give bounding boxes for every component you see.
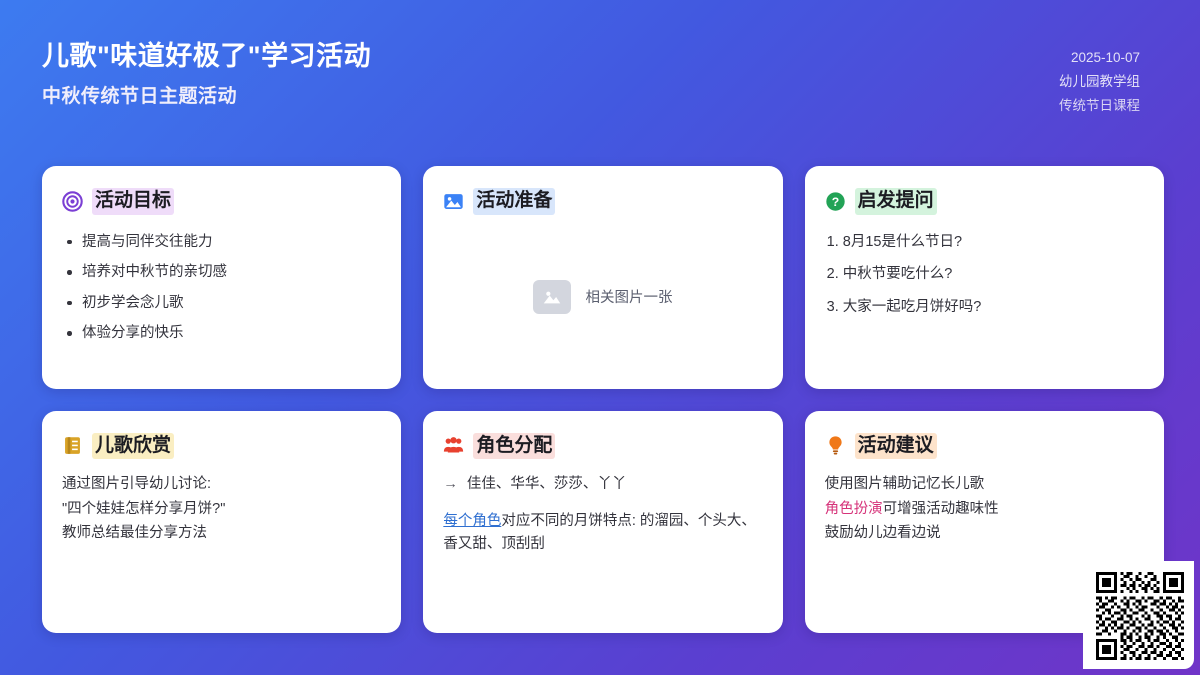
card-grid: 活动目标 提高与同伴交往能力 培养对中秋节的亲切感 初步学会念儿歌 体验分享的快… xyxy=(42,166,1164,633)
song-line: 通过图片引导幼儿讨论: xyxy=(62,473,381,496)
meta-org: 幼儿园教学组 xyxy=(1059,73,1140,91)
meta-course: 传统节日课程 xyxy=(1059,97,1140,115)
qr-code-container[interactable] xyxy=(1083,561,1194,669)
card-objectives[interactable]: 活动目标 提高与同伴交往能力 培养对中秋节的亲切感 初步学会念儿歌 体验分享的快… xyxy=(42,166,401,389)
card-title: 活动建议 xyxy=(855,433,937,460)
target-icon xyxy=(62,191,83,212)
song-line: 教师总结最佳分享方法 xyxy=(62,522,381,545)
tip-line-2: 角色扮演可增强活动趣味性 xyxy=(825,498,1144,521)
placeholder-image-icon xyxy=(533,280,571,314)
card-header: ? 启发提问 xyxy=(825,188,1144,215)
header-meta: 2025-10-07 幼儿园教学组 传统节日课程 xyxy=(1059,40,1140,116)
page-title: 儿歌"味道好极了"学习活动 xyxy=(42,40,371,74)
lightbulb-icon xyxy=(825,435,846,456)
list-item: 中秋节要吃什么? xyxy=(825,263,1144,285)
placeholder-label: 相关图片一张 xyxy=(585,286,672,307)
tip-line-2-rest: 可增强活动趣味性 xyxy=(883,501,999,517)
page-subtitle: 中秋传统节日主题活动 xyxy=(42,85,371,109)
list-item: 初步学会念儿歌 xyxy=(62,292,381,314)
card-header: 活动建议 xyxy=(825,433,1144,460)
list-item: 培养对中秋节的亲切感 xyxy=(62,261,381,283)
tip-line-1: 使用图片辅助记忆长儿歌 xyxy=(825,473,1144,496)
arrow-right-icon: → xyxy=(443,473,458,495)
card-roles[interactable]: 角色分配 → 佳佳、华华、莎莎、丫丫 每个角色对应不同的月饼特点: 的溜园、个头… xyxy=(423,411,782,634)
book-icon xyxy=(62,435,83,456)
card-header: 活动目标 xyxy=(62,188,381,215)
questions-list: 8月15是什么节日? 中秋节要吃什么? 大家一起吃月饼好吗? xyxy=(825,231,1144,328)
card-questions[interactable]: ? 启发提问 8月15是什么节日? 中秋节要吃什么? 大家一起吃月饼好吗? xyxy=(805,166,1164,389)
card-title: 儿歌欣赏 xyxy=(92,433,174,460)
card-title: 启发提问 xyxy=(855,188,937,215)
roles-arrow-line: → 佳佳、华华、莎莎、丫丫 xyxy=(443,473,762,495)
card-song[interactable]: 儿歌欣赏 通过图片引导幼儿讨论: "四个娃娃怎样分享月饼?" 教师总结最佳分享方… xyxy=(42,411,401,634)
slide-inner: 儿歌"味道好极了"学习活动 中秋传统节日主题活动 2025-10-07 幼儿园教… xyxy=(6,6,1194,669)
objectives-list: 提高与同伴交往能力 培养对中秋节的亲切感 初步学会念儿歌 体验分享的快乐 xyxy=(62,231,381,353)
card-header: 角色分配 xyxy=(443,433,762,460)
people-icon xyxy=(443,435,464,456)
card-header: 活动准备 xyxy=(443,188,762,215)
roles-description: 每个角色对应不同的月饼特点: 的溜园、个头大、香又甜、顶刮刮 xyxy=(443,510,762,557)
card-title: 活动目标 xyxy=(92,188,174,215)
card-title: 角色分配 xyxy=(473,433,555,460)
list-item: 提高与同伴交往能力 xyxy=(62,231,381,253)
list-item: 体验分享的快乐 xyxy=(62,322,381,344)
tip-highlight: 角色扮演 xyxy=(825,501,883,517)
role-link[interactable]: 每个角色 xyxy=(443,513,501,529)
tip-line-3: 鼓励幼儿边看边说 xyxy=(825,522,1144,545)
image-icon xyxy=(443,191,464,212)
card-title: 活动准备 xyxy=(473,188,555,215)
slide-header: 儿歌"味道好极了"学习活动 中秋传统节日主题活动 2025-10-07 幼儿园教… xyxy=(6,6,1194,156)
card-header: 儿歌欣赏 xyxy=(62,433,381,460)
qr-code-icon xyxy=(1096,572,1184,660)
header-left: 儿歌"味道好极了"学习活动 中秋传统节日主题活动 xyxy=(42,40,371,109)
svg-text:?: ? xyxy=(831,195,838,209)
song-line: "四个娃娃怎样分享月饼?" xyxy=(62,498,381,521)
list-item: 大家一起吃月饼好吗? xyxy=(825,296,1144,318)
list-item: 8月15是什么节日? xyxy=(825,231,1144,253)
meta-date: 2025-10-07 xyxy=(1059,49,1140,67)
image-placeholder: 相关图片一张 xyxy=(443,223,762,371)
roles-names: 佳佳、华华、莎莎、丫丫 xyxy=(467,473,627,495)
slide-root: 儿歌"味道好极了"学习活动 中秋传统节日主题活动 2025-10-07 幼儿园教… xyxy=(0,0,1200,675)
card-preparation[interactable]: 活动准备 相关图片一张 xyxy=(423,166,782,389)
question-icon: ? xyxy=(825,191,846,212)
